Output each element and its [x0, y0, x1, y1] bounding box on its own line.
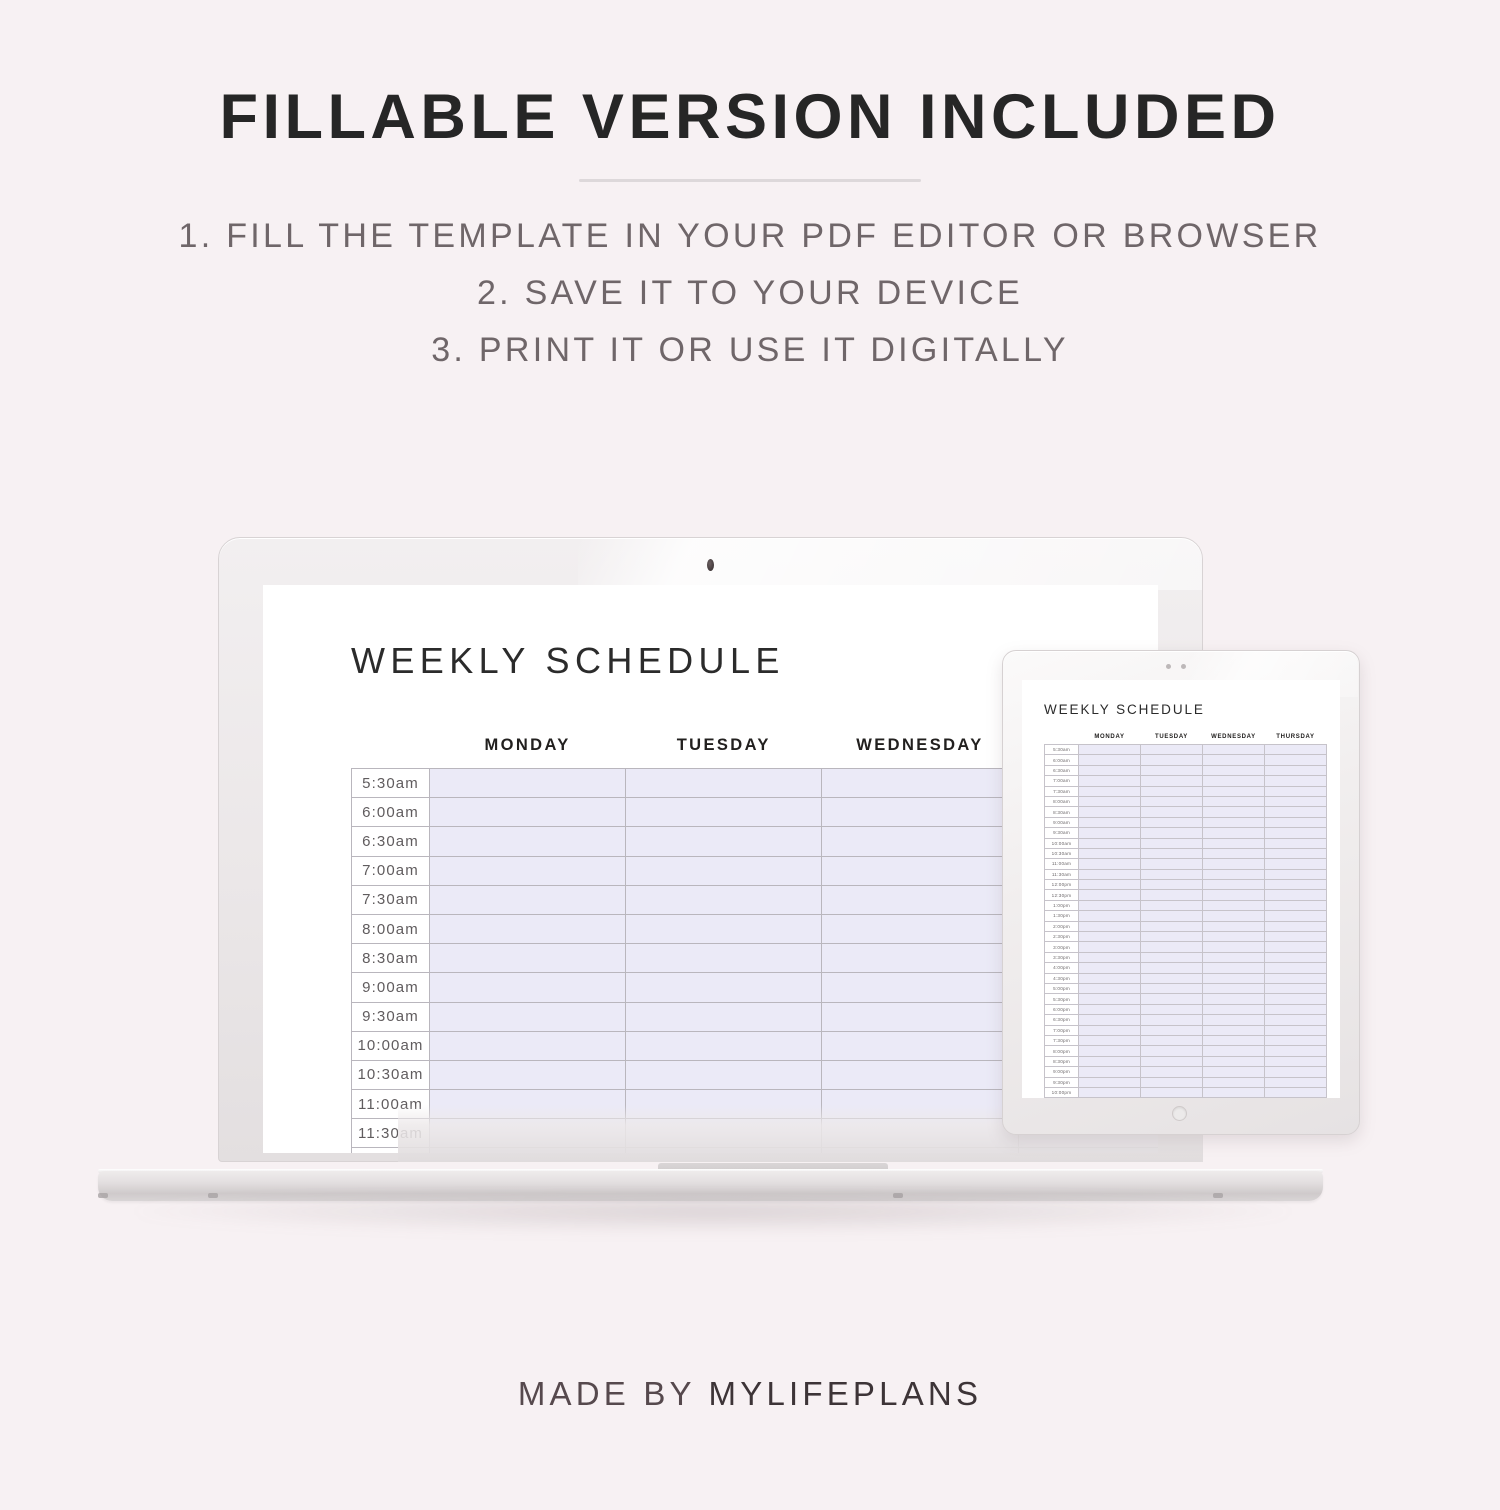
schedule-entry-cell[interactable]	[1079, 932, 1141, 942]
schedule-row: 6:00am	[1045, 755, 1327, 765]
schedule-entry-cell[interactable]	[1141, 1046, 1203, 1056]
schedule-entry-cell[interactable]	[1141, 973, 1203, 983]
schedule-entry-cell[interactable]	[1265, 983, 1327, 993]
schedule-row: 1:00pm	[1045, 900, 1327, 910]
schedule-entry-cell[interactable]	[626, 1002, 822, 1031]
schedule-entry-cell[interactable]	[1079, 1025, 1141, 1035]
schedule-row: 10:00pm	[1045, 1087, 1327, 1097]
schedule-entry-cell[interactable]	[1079, 952, 1141, 962]
schedule-row: 6:00pm	[1045, 1004, 1327, 1014]
time-slot-label: 2:30pm	[1045, 932, 1079, 942]
day-column-header-tuesday: TUESDAY	[1141, 734, 1203, 745]
schedule-entry-cell[interactable]	[1141, 942, 1203, 952]
time-slot-label: 9:30am	[352, 1002, 430, 1031]
time-slot-label: 8:30am	[352, 944, 430, 973]
schedule-entry-cell[interactable]	[1265, 1035, 1327, 1045]
tablet-screen: WEEKLY SCHEDULE MONDAY TUESDAY WEDNESDAY…	[1022, 680, 1340, 1098]
schedule-entry-cell[interactable]	[1079, 1015, 1141, 1025]
time-slot-label: 3:30pm	[1045, 952, 1079, 962]
schedule-entry-cell[interactable]	[1079, 745, 1141, 755]
header-section: FILLABLE VERSION INCLUDED 1. FILL THE TE…	[0, 0, 1500, 378]
schedule-entry-cell[interactable]	[1141, 932, 1203, 942]
schedule-entry-cell[interactable]	[1079, 890, 1141, 900]
schedule-entry-cell[interactable]	[1203, 983, 1265, 993]
schedule-entry-cell[interactable]	[1079, 828, 1141, 838]
schedule-entry-cell[interactable]	[1265, 786, 1327, 796]
schedule-entry-cell[interactable]	[1265, 859, 1327, 869]
schedule-row: 8:30am	[1045, 807, 1327, 817]
schedule-entry-cell[interactable]	[1079, 838, 1141, 848]
time-slot-label: 6:30am	[1045, 765, 1079, 775]
schedule-entry-cell[interactable]	[1203, 776, 1265, 786]
time-slot-label: 7:30am	[352, 885, 430, 914]
time-slot-label: 5:00pm	[1045, 983, 1079, 993]
schedule-row: 3:00pm	[1045, 942, 1327, 952]
schedule-entry-cell[interactable]	[1265, 755, 1327, 765]
schedule-entry-cell[interactable]	[1203, 1087, 1265, 1097]
time-column-header	[1045, 734, 1079, 745]
time-slot-label: 10:30am	[1045, 848, 1079, 858]
schedule-entry-cell[interactable]	[822, 827, 1018, 856]
schedule-entry-cell[interactable]	[1079, 994, 1141, 1004]
schedule-entry-cell[interactable]	[1203, 848, 1265, 858]
schedule-entry-cell[interactable]	[626, 827, 822, 856]
schedule-row: 7:00pm	[1045, 1025, 1327, 1035]
schedule-entry-cell[interactable]	[430, 1002, 626, 1031]
schedule-entry-cell[interactable]	[430, 798, 626, 827]
schedule-entry-cell[interactable]	[1265, 1056, 1327, 1066]
schedule-entry-cell[interactable]	[1079, 817, 1141, 827]
time-slot-label: 6:00pm	[1045, 1004, 1079, 1014]
schedule-entry-cell[interactable]	[1141, 1025, 1203, 1035]
schedule-row: 4:30pm	[1045, 973, 1327, 983]
schedule-entry-cell[interactable]	[1079, 869, 1141, 879]
schedule-entry-cell[interactable]	[1141, 1077, 1203, 1087]
time-slot-label: 7:00pm	[1045, 1025, 1079, 1035]
schedule-row: 8:00pm	[1045, 1046, 1327, 1056]
schedule-entry-cell[interactable]	[626, 914, 822, 943]
schedule-entry-cell[interactable]	[822, 885, 1018, 914]
schedule-entry-cell[interactable]	[1265, 765, 1327, 775]
instruction-steps-list: 1. FILL THE TEMPLATE IN YOUR PDF EDITOR …	[0, 208, 1500, 378]
time-slot-label: 8:00am	[352, 914, 430, 943]
schedule-entry-cell[interactable]	[1141, 807, 1203, 817]
schedule-entry-cell[interactable]	[1141, 994, 1203, 1004]
schedule-entry-cell[interactable]	[1141, 817, 1203, 827]
schedule-entry-cell[interactable]	[822, 798, 1018, 827]
schedule-entry-cell[interactable]	[430, 1060, 626, 1089]
schedule-entry-cell[interactable]	[1203, 859, 1265, 869]
day-column-header-thursday: THURSDAY	[1265, 734, 1327, 745]
schedule-entry-cell[interactable]	[1079, 776, 1141, 786]
instruction-step-1: 1. FILL THE TEMPLATE IN YOUR PDF EDITOR …	[0, 208, 1500, 265]
schedule-entry-cell[interactable]	[1265, 869, 1327, 879]
time-slot-label: 8:00am	[1045, 796, 1079, 806]
schedule-entry-cell[interactable]	[822, 1002, 1018, 1031]
time-slot-label: 5:30pm	[1045, 994, 1079, 1004]
schedule-entry-cell[interactable]	[1203, 942, 1265, 952]
schedule-entry-cell[interactable]	[1265, 796, 1327, 806]
schedule-entry-cell[interactable]	[430, 885, 626, 914]
schedule-entry-cell[interactable]	[1203, 745, 1265, 755]
time-slot-label: 11:00am	[1045, 859, 1079, 869]
schedule-entry-cell[interactable]	[1141, 755, 1203, 765]
schedule-entry-cell[interactable]	[626, 798, 822, 827]
schedule-entry-cell[interactable]	[1265, 1025, 1327, 1035]
schedule-entry-cell[interactable]	[1079, 1087, 1141, 1097]
schedule-row: 8:00am	[1045, 796, 1327, 806]
schedule-entry-cell[interactable]	[1141, 880, 1203, 890]
time-column-header	[352, 736, 430, 769]
schedule-entry-cell[interactable]	[1141, 1035, 1203, 1045]
schedule-entry-cell[interactable]	[1141, 786, 1203, 796]
camera-icon	[1166, 664, 1171, 669]
schedule-entry-cell[interactable]	[1079, 807, 1141, 817]
schedule-entry-cell[interactable]	[430, 856, 626, 885]
schedule-row: 11:00am	[1045, 859, 1327, 869]
schedule-entry-cell[interactable]	[1141, 869, 1203, 879]
schedule-entry-cell[interactable]	[1265, 890, 1327, 900]
schedule-row: 2:30pm	[1045, 932, 1327, 942]
schedule-entry-cell[interactable]	[1265, 900, 1327, 910]
time-slot-label: 10:00am	[1045, 838, 1079, 848]
schedule-row: 2:00pm	[1045, 921, 1327, 931]
schedule-entry-cell[interactable]	[822, 914, 1018, 943]
schedule-entry-cell[interactable]	[1203, 1056, 1265, 1066]
schedule-entry-cell[interactable]	[1203, 1077, 1265, 1087]
schedule-entry-cell[interactable]	[1203, 786, 1265, 796]
schedule-entry-cell[interactable]	[822, 944, 1018, 973]
schedule-header-row: MONDAY TUESDAY WEDNESDAY THURSDAY	[1045, 734, 1327, 745]
webcam-icon	[707, 559, 714, 571]
time-slot-label: 1:30pm	[1045, 911, 1079, 921]
schedule-entry-cell[interactable]	[1203, 911, 1265, 921]
schedule-entry-cell[interactable]	[1265, 1087, 1327, 1097]
schedule-row: 5:30pm	[1045, 994, 1327, 1004]
schedule-entry-cell[interactable]	[1079, 921, 1141, 931]
schedule-entry-cell[interactable]	[1141, 796, 1203, 806]
schedule-row: 6:30am	[1045, 765, 1327, 775]
schedule-entry-cell[interactable]	[1203, 880, 1265, 890]
schedule-entry-cell[interactable]	[1079, 973, 1141, 983]
schedule-entry-cell[interactable]	[1141, 900, 1203, 910]
time-slot-label: 6:00am	[352, 798, 430, 827]
schedule-row: 9:30am	[1045, 828, 1327, 838]
brand-name: MYLIFEPLANS	[709, 1375, 983, 1412]
schedule-entry-cell[interactable]	[822, 1060, 1018, 1089]
schedule-row: 10:30am	[1045, 848, 1327, 858]
schedule-entry-cell[interactable]	[1141, 765, 1203, 775]
schedule-entry-cell[interactable]	[1141, 963, 1203, 973]
time-slot-label: 5:30am	[1045, 745, 1079, 755]
schedule-entry-cell[interactable]	[1265, 932, 1327, 942]
schedule-entry-cell[interactable]	[1079, 942, 1141, 952]
schedule-entry-cell[interactable]	[1203, 828, 1265, 838]
schedule-entry-cell[interactable]	[1079, 765, 1141, 775]
schedule-entry-cell[interactable]	[626, 885, 822, 914]
schedule-entry-cell[interactable]	[822, 856, 1018, 885]
time-slot-label: 9:30am	[1045, 828, 1079, 838]
schedule-entry-cell[interactable]	[1265, 921, 1327, 931]
schedule-entry-cell[interactable]	[1141, 1087, 1203, 1097]
time-slot-label: 5:30am	[352, 769, 430, 798]
schedule-entry-cell[interactable]	[1265, 807, 1327, 817]
schedule-entry-cell[interactable]	[1079, 963, 1141, 973]
schedule-entry-cell[interactable]	[1203, 755, 1265, 765]
time-slot-label: 7:30am	[1045, 786, 1079, 796]
schedule-entry-cell[interactable]	[1079, 848, 1141, 858]
schedule-entry-cell[interactable]	[1203, 838, 1265, 848]
schedule-entry-cell[interactable]	[1141, 859, 1203, 869]
schedule-entry-cell[interactable]	[1203, 963, 1265, 973]
schedule-entry-cell[interactable]	[1079, 786, 1141, 796]
schedule-entry-cell[interactable]	[626, 1060, 822, 1089]
schedule-entry-cell[interactable]	[1141, 1067, 1203, 1077]
schedule-entry-cell[interactable]	[1079, 911, 1141, 921]
schedule-entry-cell[interactable]	[1141, 1004, 1203, 1014]
schedule-table-wrapper: MONDAY TUESDAY WEDNESDAY THURSDAY 5:30am…	[1044, 734, 1340, 1098]
schedule-row: 10:00am	[1045, 838, 1327, 848]
schedule-entry-cell[interactable]	[1265, 880, 1327, 890]
weekly-schedule-document-tablet: WEEKLY SCHEDULE MONDAY TUESDAY WEDNESDAY…	[1022, 680, 1340, 1098]
schedule-row: 9:00am	[1045, 817, 1327, 827]
schedule-entry-cell[interactable]	[1265, 817, 1327, 827]
schedule-entry-cell[interactable]	[1079, 796, 1141, 806]
schedule-entry-cell[interactable]	[1203, 932, 1265, 942]
day-column-header-wednesday: WEDNESDAY	[1203, 734, 1265, 745]
time-slot-label: 8:00pm	[1045, 1046, 1079, 1056]
schedule-entry-cell[interactable]	[1265, 1077, 1327, 1087]
time-slot-label: 4:30pm	[1045, 973, 1079, 983]
day-column-header-wednesday: WEDNESDAY	[822, 736, 1018, 769]
time-slot-label: 9:00am	[352, 973, 430, 1002]
schedule-entry-cell[interactable]	[1141, 848, 1203, 858]
schedule-entry-cell[interactable]	[1079, 1035, 1141, 1045]
schedule-entry-cell[interactable]	[822, 973, 1018, 1002]
schedule-entry-cell[interactable]	[1079, 1046, 1141, 1056]
schedule-entry-cell[interactable]	[1265, 1067, 1327, 1077]
schedule-row: 7:30am	[1045, 786, 1327, 796]
schedule-entry-cell[interactable]	[1265, 838, 1327, 848]
day-column-header-tuesday: TUESDAY	[626, 736, 822, 769]
schedule-entry-cell[interactable]	[1079, 755, 1141, 765]
time-slot-label: 12:30pm	[1045, 890, 1079, 900]
schedule-entry-cell[interactable]	[1079, 1004, 1141, 1014]
time-slot-label: 10:30am	[352, 1060, 430, 1089]
schedule-entry-cell[interactable]	[1265, 942, 1327, 952]
schedule-row: 7:30pm	[1045, 1035, 1327, 1045]
page-title: FILLABLE VERSION INCLUDED	[0, 86, 1500, 149]
schedule-entry-cell[interactable]	[1141, 745, 1203, 755]
title-divider	[579, 179, 921, 182]
schedule-entry-cell[interactable]	[1079, 900, 1141, 910]
day-column-header-monday: MONDAY	[430, 736, 626, 769]
time-slot-label: 8:30am	[1045, 807, 1079, 817]
schedule-entry-cell[interactable]	[822, 769, 1018, 798]
schedule-entry-cell[interactable]	[1265, 1015, 1327, 1025]
time-slot-label: 3:00pm	[1045, 942, 1079, 952]
schedule-row: 8:30pm	[1045, 1056, 1327, 1066]
schedule-row: 9:00pm	[1045, 1067, 1327, 1077]
schedule-entry-cell[interactable]	[1141, 911, 1203, 921]
schedule-table-body: 5:30am6:00am6:30am7:00am7:30am8:00am8:30…	[1045, 745, 1327, 1099]
schedule-row: 3:30pm	[1045, 952, 1327, 962]
document-title: WEEKLY SCHEDULE	[1044, 702, 1340, 717]
sensor-icon	[1181, 664, 1186, 669]
schedule-row: 7:00am	[1045, 776, 1327, 786]
time-slot-label: 2:00pm	[1045, 921, 1079, 931]
schedule-entry-cell[interactable]	[1079, 859, 1141, 869]
schedule-entry-cell[interactable]	[430, 944, 626, 973]
day-column-header-monday: MONDAY	[1079, 734, 1141, 745]
weekly-schedule-table: MONDAY TUESDAY WEDNESDAY THURSDAY 5:30am…	[1044, 734, 1327, 1098]
schedule-entry-cell[interactable]	[1265, 952, 1327, 962]
home-button-icon[interactable]	[1172, 1106, 1187, 1121]
schedule-row: 5:30am	[1045, 745, 1327, 755]
time-slot-label: 6:30pm	[1045, 1015, 1079, 1025]
schedule-entry-cell[interactable]	[1265, 1004, 1327, 1014]
instruction-step-2: 2. SAVE IT TO YOUR DEVICE	[0, 265, 1500, 322]
schedule-entry-cell[interactable]	[1141, 776, 1203, 786]
schedule-entry-cell[interactable]	[1203, 921, 1265, 931]
schedule-entry-cell[interactable]	[1203, 817, 1265, 827]
time-slot-label: 9:30pm	[1045, 1077, 1079, 1087]
schedule-entry-cell[interactable]	[1265, 745, 1327, 755]
time-slot-label: 11:30am	[1045, 869, 1079, 879]
schedule-entry-cell[interactable]	[1141, 890, 1203, 900]
schedule-row: 5:00pm	[1045, 983, 1327, 993]
time-slot-label: 7:30pm	[1045, 1035, 1079, 1045]
schedule-entry-cell[interactable]	[1265, 911, 1327, 921]
laptop-foot	[98, 1193, 108, 1198]
tablet-mockup: WEEKLY SCHEDULE MONDAY TUESDAY WEDNESDAY…	[1002, 650, 1360, 1135]
schedule-entry-cell[interactable]	[1203, 765, 1265, 775]
schedule-entry-cell[interactable]	[1203, 1015, 1265, 1025]
schedule-entry-cell[interactable]	[1265, 776, 1327, 786]
schedule-entry-cell[interactable]	[1265, 973, 1327, 983]
schedule-entry-cell[interactable]	[626, 769, 822, 798]
schedule-entry-cell[interactable]	[626, 944, 822, 973]
schedule-table-head: MONDAY TUESDAY WEDNESDAY THURSDAY	[1045, 734, 1327, 745]
footer-section: MADE BY MYLIFEPLANS	[0, 1375, 1500, 1413]
schedule-row: 12:00pm	[1045, 880, 1327, 890]
schedule-row: 12:30pm	[1045, 890, 1327, 900]
schedule-entry-cell[interactable]	[1203, 1025, 1265, 1035]
time-slot-label: 1:00pm	[1045, 900, 1079, 910]
schedule-entry-cell[interactable]	[1203, 994, 1265, 1004]
schedule-entry-cell[interactable]	[430, 827, 626, 856]
schedule-entry-cell[interactable]	[1203, 1046, 1265, 1056]
made-by-prefix: MADE BY	[518, 1375, 709, 1412]
schedule-entry-cell[interactable]	[430, 769, 626, 798]
schedule-entry-cell[interactable]	[1203, 890, 1265, 900]
time-slot-label: 9:00am	[1045, 817, 1079, 827]
schedule-entry-cell[interactable]	[1141, 1015, 1203, 1025]
schedule-row: 1:30pm	[1045, 911, 1327, 921]
schedule-entry-cell[interactable]	[822, 1031, 1018, 1060]
schedule-entry-cell[interactable]	[1265, 963, 1327, 973]
instruction-step-3: 3. PRINT IT OR USE IT DIGITALLY	[0, 322, 1500, 379]
schedule-entry-cell[interactable]	[626, 973, 822, 1002]
schedule-entry-cell[interactable]	[1203, 869, 1265, 879]
schedule-row: 6:30pm	[1045, 1015, 1327, 1025]
time-slot-label: 4:00pm	[1045, 963, 1079, 973]
laptop-drop-shadow	[138, 1197, 1288, 1233]
schedule-entry-cell[interactable]	[1265, 994, 1327, 1004]
time-slot-label: 7:00am	[352, 856, 430, 885]
time-slot-label: 9:00pm	[1045, 1067, 1079, 1077]
schedule-entry-cell[interactable]	[1141, 838, 1203, 848]
schedule-row: 11:30am	[1045, 869, 1327, 879]
schedule-entry-cell[interactable]	[1079, 1077, 1141, 1087]
schedule-entry-cell[interactable]	[626, 1031, 822, 1060]
time-slot-label: 6:30am	[352, 827, 430, 856]
schedule-entry-cell[interactable]	[1203, 796, 1265, 806]
time-slot-label: 8:30pm	[1045, 1056, 1079, 1066]
schedule-entry-cell[interactable]	[1203, 807, 1265, 817]
schedule-entry-cell[interactable]	[1265, 1046, 1327, 1056]
time-slot-label: 10:00am	[352, 1031, 430, 1060]
schedule-entry-cell[interactable]	[1141, 921, 1203, 931]
schedule-entry-cell[interactable]	[1265, 848, 1327, 858]
schedule-entry-cell[interactable]	[1265, 828, 1327, 838]
schedule-entry-cell[interactable]	[1079, 1067, 1141, 1077]
schedule-row: 4:00pm	[1045, 963, 1327, 973]
schedule-entry-cell[interactable]	[1079, 1056, 1141, 1066]
schedule-entry-cell[interactable]	[1079, 983, 1141, 993]
schedule-entry-cell[interactable]	[1141, 1056, 1203, 1066]
schedule-row: 9:30pm	[1045, 1077, 1327, 1087]
time-slot-label: 12:00pm	[1045, 880, 1079, 890]
time-slot-label: 10:00pm	[1045, 1087, 1079, 1097]
schedule-entry-cell[interactable]	[626, 856, 822, 885]
schedule-entry-cell[interactable]	[1203, 1067, 1265, 1077]
made-by-credit: MADE BY MYLIFEPLANS	[0, 1375, 1500, 1413]
schedule-entry-cell[interactable]	[1203, 1004, 1265, 1014]
schedule-entry-cell[interactable]	[430, 973, 626, 1002]
schedule-entry-cell[interactable]	[430, 914, 626, 943]
time-slot-label: 6:00am	[1045, 755, 1079, 765]
schedule-entry-cell[interactable]	[1203, 900, 1265, 910]
schedule-entry-cell[interactable]	[1141, 952, 1203, 962]
schedule-entry-cell[interactable]	[1141, 828, 1203, 838]
schedule-entry-cell[interactable]	[1141, 983, 1203, 993]
schedule-entry-cell[interactable]	[1203, 1035, 1265, 1045]
schedule-entry-cell[interactable]	[1203, 952, 1265, 962]
schedule-entry-cell[interactable]	[430, 1031, 626, 1060]
time-slot-label: 7:00am	[1045, 776, 1079, 786]
schedule-entry-cell[interactable]	[1079, 880, 1141, 890]
schedule-entry-cell[interactable]	[1203, 973, 1265, 983]
